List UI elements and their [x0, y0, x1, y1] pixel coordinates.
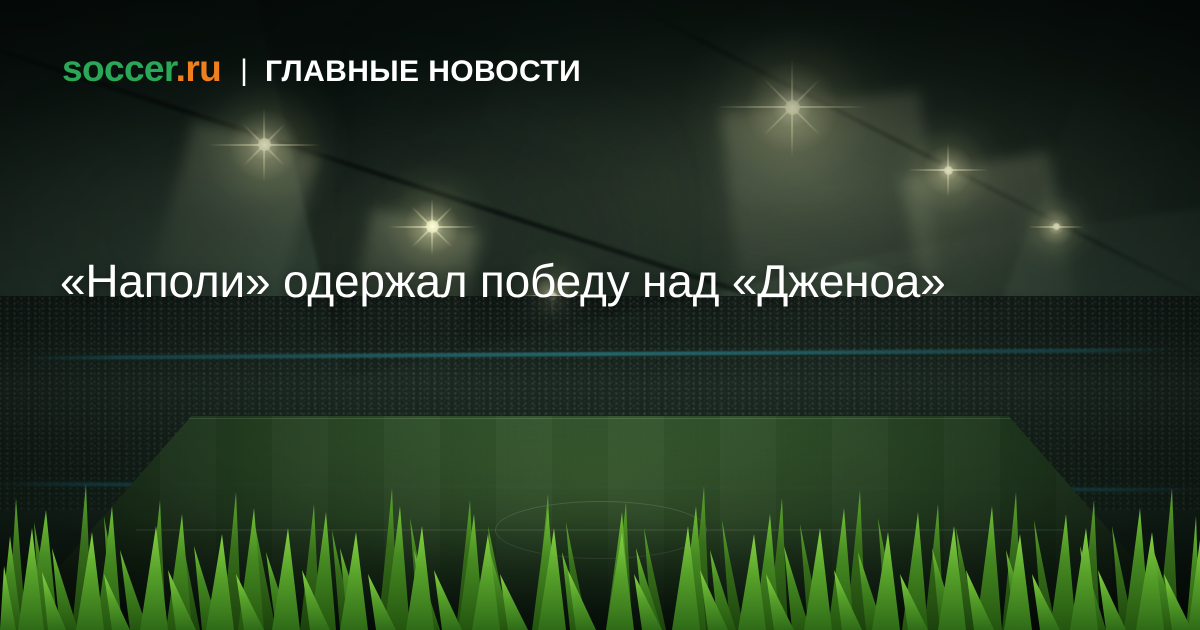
news-share-card: soccer.ru | ГЛАВНЫЕ НОВОСТИ «Наполи» оде…: [0, 0, 1200, 630]
site-header: soccer.ru | ГЛАВНЫЕ НОВОСТИ: [62, 50, 581, 89]
header-kicker-label: ГЛАВНЫЕ НОВОСТИ: [265, 57, 581, 87]
site-logo[interactable]: soccer.ru: [62, 50, 221, 87]
article-headline: «Наполи» одержал победу над «Дженоа»: [60, 252, 980, 310]
foreground-grass: [0, 470, 1200, 630]
logo-text-dot: .: [176, 48, 186, 89]
header-separator: |: [240, 54, 248, 88]
grass-blades-svg: [0, 470, 1200, 630]
logo-text-soccer: soccer: [62, 48, 176, 89]
logo-text-ru: ru: [185, 48, 221, 89]
